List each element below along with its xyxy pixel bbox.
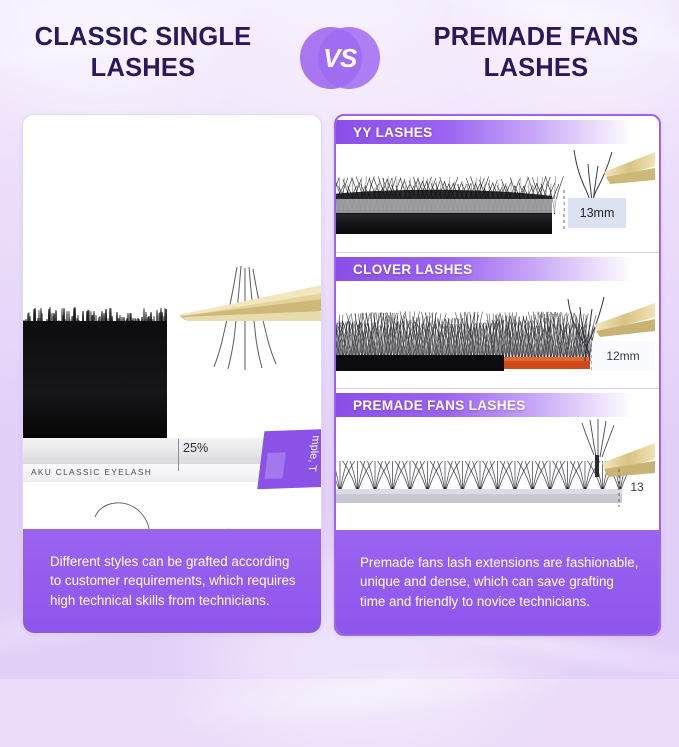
section-header-premade: PREMADE FANS LASHES <box>336 393 659 417</box>
right-caption-text: Premade fans lash extensions are fashion… <box>336 553 659 612</box>
lash-strip-body <box>23 321 167 441</box>
tray-sticker: mple, T <box>257 429 321 489</box>
section-premade-fans: PREMADE FANS LASHES 13 <box>336 388 659 531</box>
vs-label: VS <box>300 27 380 90</box>
measurement-badge-premade: 13 <box>622 473 652 501</box>
section-title-premade: PREMADE FANS LASHES <box>336 398 526 413</box>
section-body-premade: 13 <box>336 417 659 531</box>
vs-badge: VS <box>300 27 380 90</box>
classic-lashes-photo: 25% AKU CLASSIC EYELASH mple, T <box>23 115 321 529</box>
product-label: AKU CLASSIC EYELASH <box>31 467 152 477</box>
section-body-clover: 12mm <box>336 281 659 389</box>
left-caption-text: Different styles can be grafted accordin… <box>23 552 321 611</box>
section-title-clover: CLOVER LASHES <box>336 262 472 277</box>
right-title: PREMADE FANS LASHES <box>405 22 667 84</box>
premade-fans-illustration <box>336 417 655 527</box>
sticker-gloss <box>265 452 286 479</box>
right-caption-box: Premade fans lash extensions are fashion… <box>336 530 659 634</box>
loose-lashes-illustration <box>23 483 321 529</box>
section-title-yy: YY LASHES <box>336 125 433 140</box>
comparison-header: CLASSIC SINGLE LASHES VS PREMADE FANS LA… <box>0 22 679 104</box>
premade-fans-lashes-card: YY LASHES <box>334 114 661 636</box>
background-streak <box>149 651 625 731</box>
yy-lashes-illustration <box>336 144 655 248</box>
section-body-yy: 13mm <box>336 144 659 252</box>
measurement-badge-clover: 12mm <box>594 341 652 371</box>
section-clover-lashes: CLOVER LASHES 12mm <box>336 252 659 389</box>
section-header-clover: CLOVER LASHES <box>336 257 659 281</box>
section-yy-lashes: YY LASHES <box>336 116 659 252</box>
sticker-text: mple, T <box>305 435 321 472</box>
left-title: CLASSIC SINGLE LASHES <box>12 22 274 84</box>
measure-tick <box>178 439 179 471</box>
section-header-yy: YY LASHES <box>336 120 659 144</box>
measurement-badge-yy: 13mm <box>568 198 626 228</box>
classic-single-lashes-card: 25% AKU CLASSIC EYELASH mple, T Differen… <box>22 114 322 634</box>
percent-label: 25% <box>183 441 208 455</box>
tweezer-with-single-lashes-icon <box>173 263 321 373</box>
left-caption-box: Different styles can be grafted accordin… <box>23 529 321 633</box>
